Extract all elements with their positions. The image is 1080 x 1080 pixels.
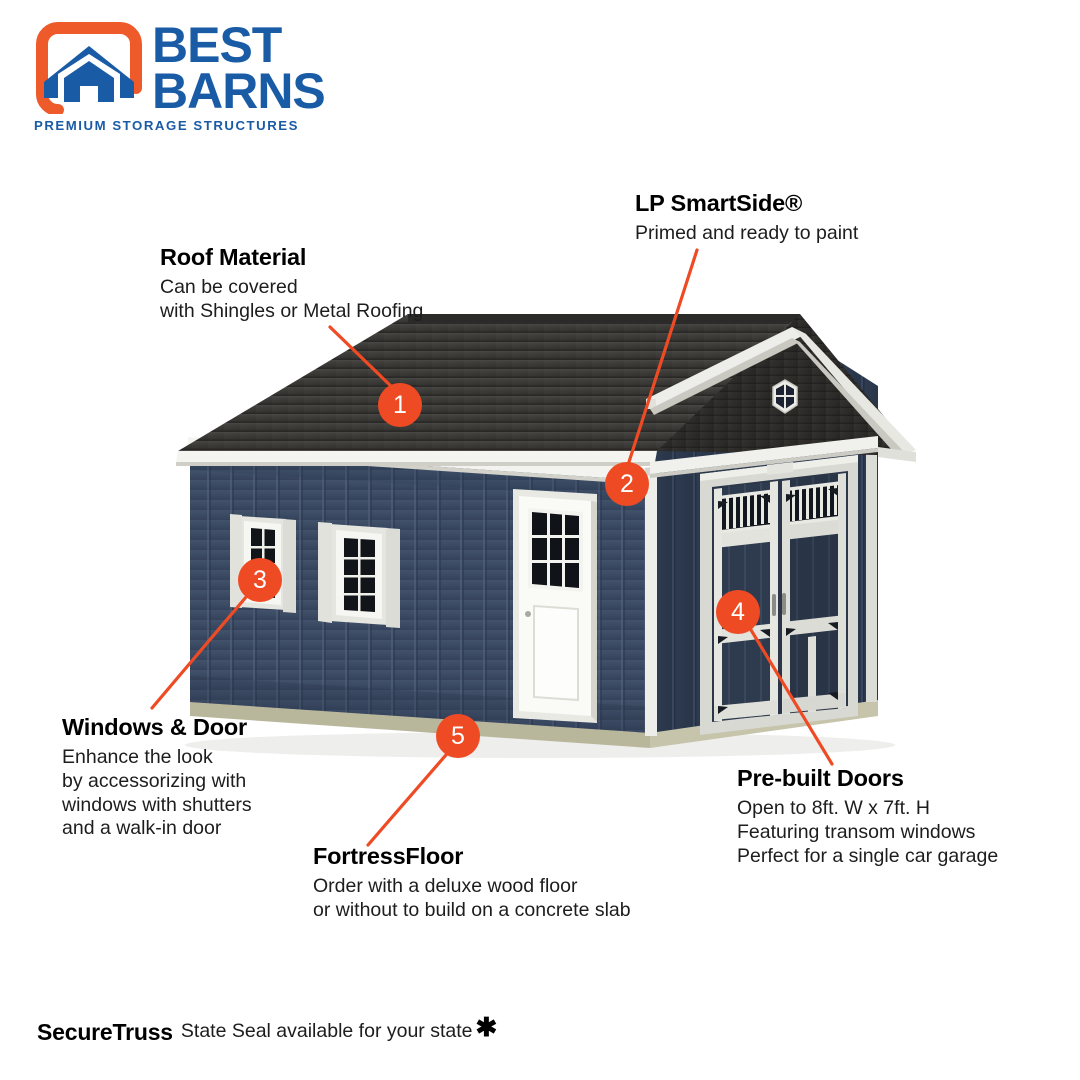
callout-title: Roof Material: [160, 244, 423, 271]
callout-body: Open to 8ft. W x 7ft. H Featuring transo…: [737, 797, 998, 868]
callout-badge-3[interactable]: 3: [238, 558, 282, 602]
callout-badge-2[interactable]: 2: [605, 462, 649, 506]
callout-pre-built-doors: Pre-built Doors Open to 8ft. W x 7ft. H …: [737, 765, 998, 868]
footer-note-text: State Seal available for your state: [181, 1020, 473, 1043]
footer-brand-label: SecureTruss: [37, 1019, 173, 1046]
side-window-middle: [318, 522, 400, 628]
callout-badge-4[interactable]: 4: [716, 590, 760, 634]
callout-line: Enhance the look: [62, 746, 252, 770]
callout-line: Featuring transom windows: [737, 821, 998, 845]
footer-securetruss-note: SecureTruss State Seal available for you…: [37, 1019, 497, 1050]
callout-line: Perfect for a single car garage: [737, 845, 998, 869]
callout-line: Open to 8ft. W x 7ft. H: [737, 797, 998, 821]
callout-line: windows with shutters: [62, 794, 252, 818]
callout-line: Order with a deluxe wood floor: [313, 875, 631, 899]
callout-line: Can be covered: [160, 276, 423, 300]
callout-badge-1[interactable]: 1: [378, 383, 422, 427]
callout-line: with Shingles or Metal Roofing: [160, 300, 423, 324]
poster-canvas: BEST BARNS PREMIUM STORAGE STRUCTURES: [0, 0, 1080, 1080]
callout-body: Enhance the look by accessorizing with w…: [62, 746, 252, 841]
callout-body: Primed and ready to paint: [635, 222, 858, 246]
callout-title: FortressFloor: [313, 843, 631, 870]
callout-line: or without to build on a concrete slab: [313, 899, 631, 923]
callout-lp-smartside: LP SmartSide® Primed and ready to paint: [635, 190, 858, 246]
callout-line: and a walk-in door: [62, 817, 252, 841]
callout-title: LP SmartSide®: [635, 190, 858, 217]
callout-line: Primed and ready to paint: [635, 222, 858, 246]
callout-roof-material: Roof Material Can be covered with Shingl…: [160, 244, 423, 324]
callout-title: Windows & Door: [62, 714, 252, 741]
callout-badge-5[interactable]: 5: [436, 714, 480, 758]
asterisk-icon: ✱: [475, 1012, 497, 1043]
callout-line: by accessorizing with: [62, 770, 252, 794]
gable-octagon-window: [773, 380, 797, 413]
callout-fortressfloor: FortressFloor Order with a deluxe wood f…: [313, 843, 631, 923]
walk-in-door: [513, 489, 597, 723]
callout-body: Order with a deluxe wood floor or withou…: [313, 875, 631, 923]
callout-body: Can be covered with Shingles or Metal Ro…: [160, 276, 423, 324]
leader-line-5: [368, 748, 452, 845]
callout-title: Pre-built Doors: [737, 765, 998, 792]
callout-windows-and-door: Windows & Door Enhance the look by acces…: [62, 714, 252, 841]
